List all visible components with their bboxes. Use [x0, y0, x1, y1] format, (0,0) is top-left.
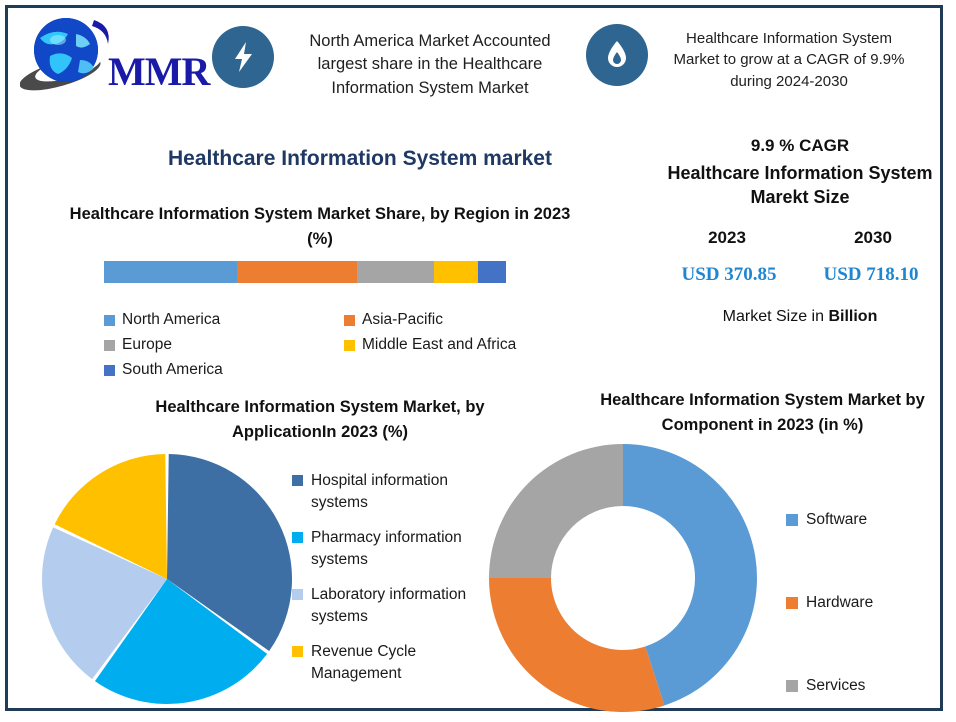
logo-wordmark: MMR: [108, 48, 209, 95]
component-legend: Software Hardware Services: [786, 478, 951, 722]
value-row: USD 370.85 USD 718.10: [655, 264, 945, 286]
component-chart-title: Healthcare Information System Market by …: [575, 388, 950, 438]
header-callout-2: Healthcare Information System Market to …: [586, 10, 916, 92]
legend-swatch: [104, 315, 115, 326]
legend-label: Hardware: [806, 594, 873, 612]
market-size-heading: Healthcare Information System Marekt Siz…: [655, 162, 945, 210]
legend-swatch: [344, 315, 355, 326]
application-pie-chart: [42, 448, 292, 710]
legend-swatch: [786, 514, 798, 526]
header-callout-2-text: Healthcare Information System Market to …: [662, 24, 916, 92]
market-value-2030: USD 718.10: [801, 264, 941, 286]
header-bar: MMR North America Market Accounted large…: [12, 10, 944, 122]
legend-item-revenue-cycle-management: Revenue Cycle Management: [292, 641, 507, 686]
legend-item-laboratory-information-systems: Laboratory information systems: [292, 584, 507, 629]
legend-item-hospital-information-systems: Hospital information systems: [292, 470, 507, 515]
bar-segment-asia-pacific: [237, 261, 358, 283]
legend-swatch: [292, 475, 303, 486]
legend-label: Revenue Cycle Management: [311, 641, 507, 686]
legend-item-software: Software: [786, 478, 951, 561]
region-chart-title: Healthcare Information System Market Sha…: [60, 202, 580, 252]
mmr-logo: MMR: [12, 10, 212, 110]
region-stacked-bar: [104, 261, 506, 283]
page-title: Healthcare Information System market: [95, 147, 625, 171]
legend-swatch: [292, 589, 303, 600]
legend-item-hardware: Hardware: [786, 561, 951, 644]
legend-label: North America: [122, 311, 220, 329]
legend-label: Hospital information systems: [311, 470, 507, 515]
legend-swatch: [104, 340, 115, 351]
legend-swatch: [292, 532, 303, 543]
cagr-value: 9.9 % CAGR: [655, 136, 945, 156]
market-size-unit-bold: Billion: [828, 308, 877, 325]
legend-item-asia-pacific: Asia-Pacific: [344, 311, 443, 329]
market-size-unit-prefix: Market Size in: [723, 308, 829, 325]
component-donut-chart: [487, 442, 759, 714]
legend-swatch: [292, 646, 303, 657]
legend-label: Europe: [122, 336, 172, 354]
component-donut-slice-1: [489, 578, 664, 712]
legend-item-services: Services: [786, 644, 951, 722]
legend-item-north-america: North America: [104, 311, 344, 329]
bar-segment-south-america: [478, 261, 506, 283]
market-size-unit: Market Size in Billion: [655, 308, 945, 326]
legend-label: Services: [806, 677, 865, 695]
legend-item-south-america: South America: [104, 361, 344, 379]
lightning-bolt-icon: [212, 26, 274, 88]
legend-swatch: [786, 597, 798, 609]
market-size-panel: 9.9 % CAGR Healthcare Information System…: [655, 136, 945, 326]
application-legend: Hospital information systems Pharmacy in…: [292, 470, 507, 698]
application-chart-title: Healthcare Information System Market, by…: [110, 395, 530, 445]
year-2030-label: 2030: [813, 228, 933, 248]
component-donut-slice-2: [489, 444, 623, 578]
legend-label: Asia-Pacific: [362, 311, 443, 329]
infographic-canvas: MMR North America Market Accounted large…: [0, 0, 956, 722]
legend-swatch: [344, 340, 355, 351]
header-callout-1-text: North America Market Accounted largest s…: [288, 26, 572, 100]
bar-segment-north-america: [104, 261, 237, 283]
legend-item-pharmacy-information-systems: Pharmacy information systems: [292, 527, 507, 572]
year-row: 2023 2030: [655, 228, 945, 248]
legend-item-europe: Europe: [104, 336, 344, 354]
flame-icon: [586, 24, 648, 86]
legend-label: Laboratory information systems: [311, 584, 507, 629]
legend-label: Middle East and Africa: [362, 336, 516, 354]
legend-label: South America: [122, 361, 223, 379]
header-callout-1: North America Market Accounted largest s…: [212, 10, 572, 100]
legend-label: Software: [806, 511, 867, 529]
legend-swatch: [786, 680, 798, 692]
market-value-2023: USD 370.85: [659, 264, 799, 286]
bar-segment-middle-east-africa: [434, 261, 478, 283]
legend-swatch: [104, 365, 115, 376]
legend-label: Pharmacy information systems: [311, 527, 507, 572]
legend-item-middle-east-africa: Middle East and Africa: [344, 336, 516, 354]
bar-segment-europe: [357, 261, 433, 283]
year-2023-label: 2023: [667, 228, 787, 248]
region-legend: North America Asia-Pacific Europe Middle…: [104, 311, 564, 386]
